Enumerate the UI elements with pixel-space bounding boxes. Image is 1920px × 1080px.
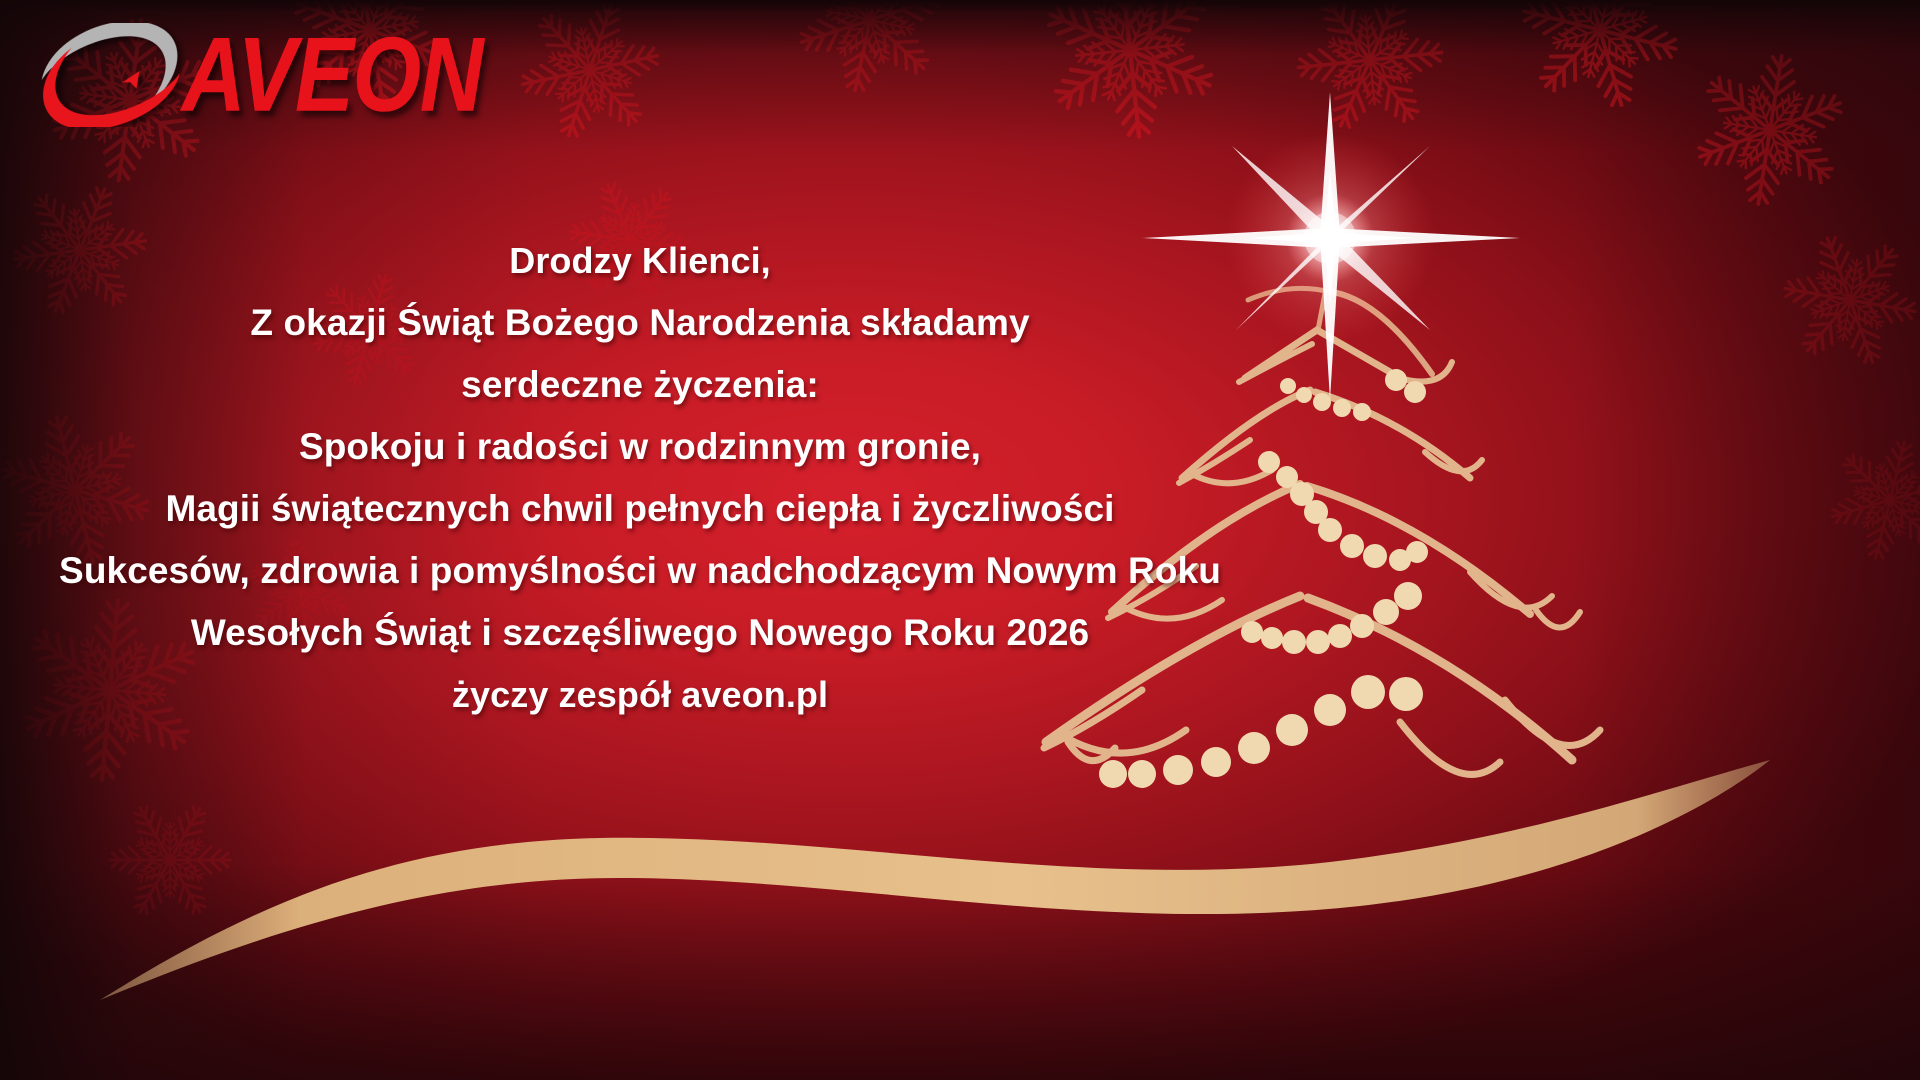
greeting-line-3: serdeczne życzenia: [40, 354, 1240, 416]
greeting-line-1: Drodzy Klienci, [40, 230, 1240, 292]
greeting-line-5: Magii świątecznych chwil pełnych ciepła … [40, 478, 1240, 540]
greeting-line-4: Spokoju i radości w rodzinnym gronie, [40, 416, 1240, 478]
christmas-greeting-card: AVEON Drodzy Klienci, Z okazji Świąt Boż… [0, 0, 1920, 1080]
aveon-swoosh-logo-icon [28, 23, 198, 127]
greeting-message: Drodzy Klienci, Z okazji Świąt Bożego Na… [40, 230, 1240, 726]
greeting-line-6: Sukcesów, zdrowia i pomyślności w nadcho… [40, 540, 1240, 602]
aveon-logo[interactable]: AVEON [28, 22, 476, 128]
aveon-wordmark: AVEON [182, 23, 482, 128]
greeting-line-7: Wesołych Świąt i szczęśliwego Nowego Rok… [40, 602, 1240, 664]
background-top-strip [0, 0, 1920, 12]
greeting-line-2: Z okazji Świąt Bożego Narodzenia składam… [40, 292, 1240, 354]
greeting-signature: życzy zespół aveon.pl [40, 664, 1240, 726]
